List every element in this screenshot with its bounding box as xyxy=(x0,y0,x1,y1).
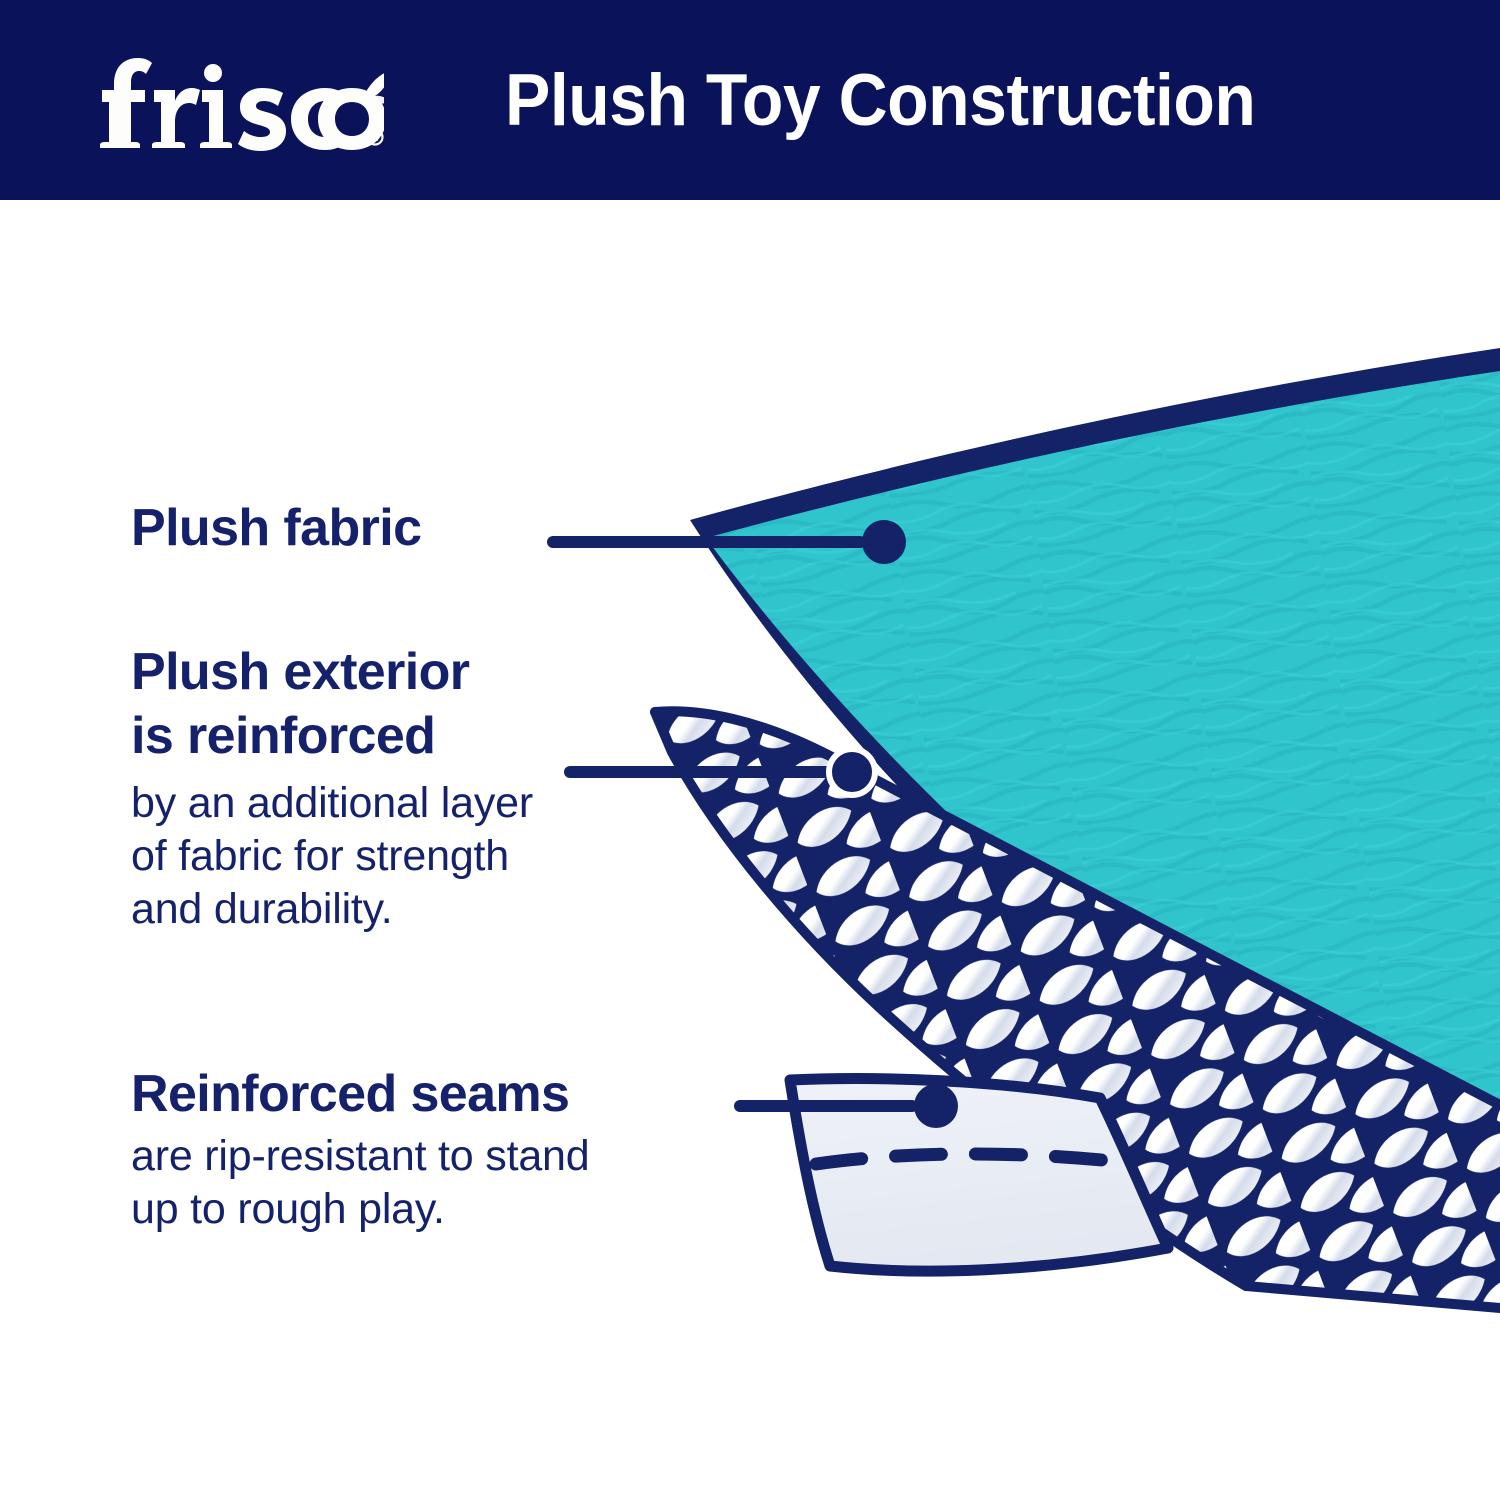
callout-heading: Plush fabric xyxy=(131,496,421,560)
callout-dot-icon xyxy=(914,1084,958,1128)
callout-body-line-2: up to rough play. xyxy=(131,1183,589,1236)
content-area: Plush fabric Plush exterior is reinforce… xyxy=(0,200,1500,1500)
page-header: R Plush Toy Construction xyxy=(0,0,1500,200)
callout-reinforced-seams: Reinforced seams are rip-resistant to st… xyxy=(131,1062,589,1236)
callout-plush-fabric: Plush fabric xyxy=(131,496,421,560)
callout-body-line-1: are rip-resistant to stand xyxy=(131,1130,589,1183)
callout-heading: Reinforced seams xyxy=(131,1062,589,1126)
callout-body-line-3: and durability. xyxy=(131,883,533,936)
page-title: Plush Toy Construction xyxy=(505,50,1255,152)
callout-heading-line-2: is reinforced xyxy=(131,704,533,768)
callout-body-line-2: of fabric for strength xyxy=(131,830,533,883)
callout-dot-ringed-icon xyxy=(829,749,875,795)
callout-plush-exterior: Plush exterior is reinforced by an addit… xyxy=(131,640,533,936)
callout-body-line-1: by an additional layer xyxy=(131,777,533,830)
frisco-wordmark-icon: R xyxy=(84,44,384,156)
callout-heading-line-1: Plush exterior xyxy=(131,640,533,704)
callout-dot-icon xyxy=(862,520,906,564)
svg-text:R: R xyxy=(372,133,379,144)
